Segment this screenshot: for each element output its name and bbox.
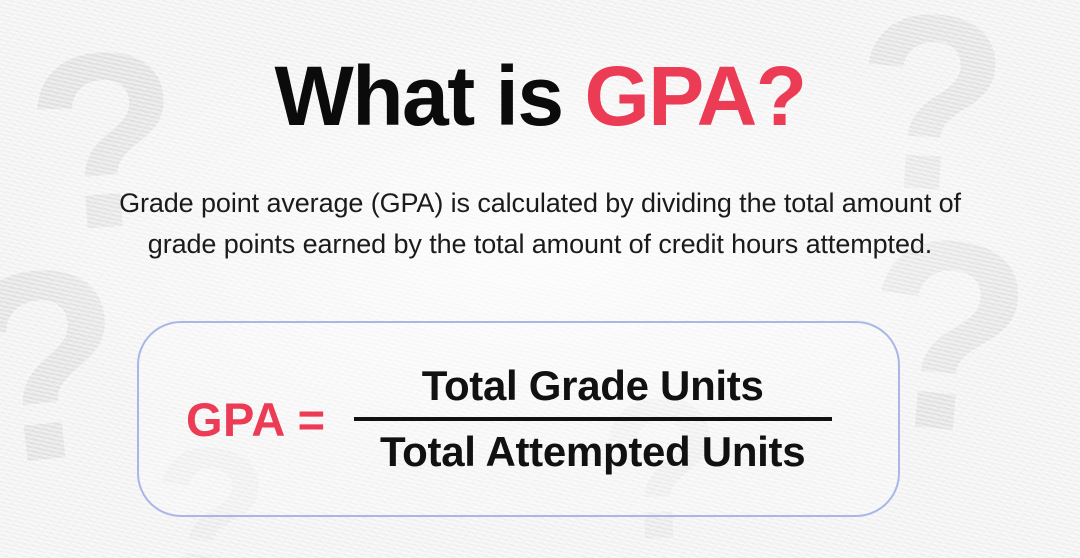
gpa-fraction: Total Grade Units Total Attempted Units [354,361,832,476]
fraction-numerator: Total Grade Units [422,361,764,417]
description-line-2: grade points earned by the total amount … [40,224,1040,265]
description-paragraph: Grade point average (GPA) is calculated … [40,183,1040,265]
description-line-1: Grade point average (GPA) is calculated … [40,183,1040,224]
content-layer: What is GPA? Grade point average (GPA) i… [0,0,1080,558]
page-title-accent: GPA? [584,49,805,143]
page-title-plain: What is [274,49,584,143]
gpa-formula-card: GPA = Total Grade Units Total Attempted … [137,321,900,517]
fraction-denominator: Total Attempted Units [380,421,805,477]
page-title: What is GPA? [0,54,1080,138]
infographic-canvas: ?????? What is GPA? Grade point average … [0,0,1080,558]
gpa-equals-label: GPA = [186,392,326,447]
